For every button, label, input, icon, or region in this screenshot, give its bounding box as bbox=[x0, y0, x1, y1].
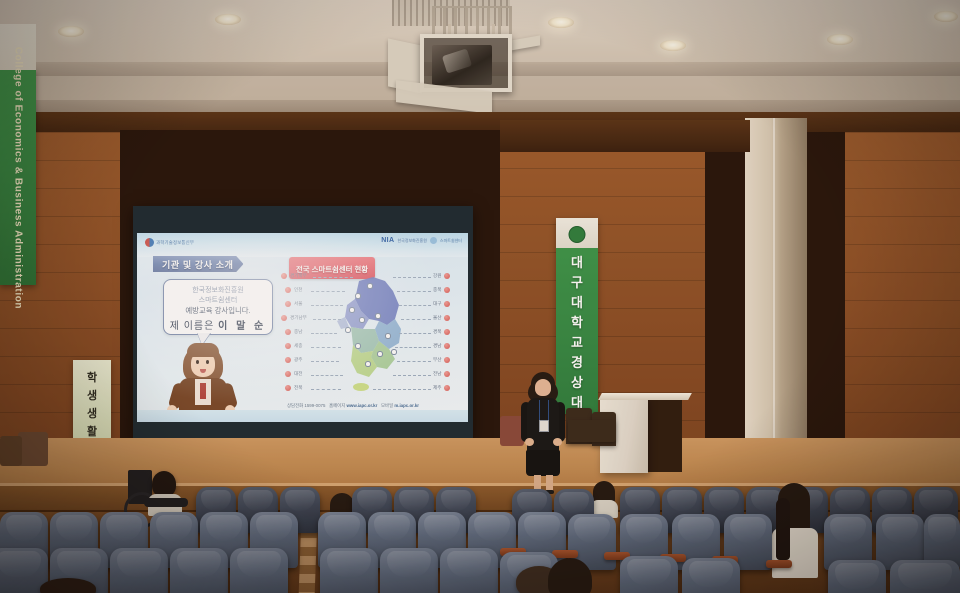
seat[interactable] bbox=[230, 548, 288, 593]
banner-char: 대 bbox=[571, 292, 583, 311]
map-marker-dot-icon bbox=[285, 329, 291, 335]
slide-footer-band bbox=[137, 410, 468, 422]
map-label-left: 대전 bbox=[285, 371, 302, 377]
audience-head bbox=[40, 578, 96, 593]
bubble-line-1: 한국정보화진흥원 bbox=[164, 285, 272, 295]
map-leader-line bbox=[399, 333, 431, 334]
map-leader-line bbox=[311, 361, 339, 362]
map-center-pin-icon bbox=[345, 327, 351, 333]
downlight-icon bbox=[827, 34, 853, 45]
bubble-line-4: 제 이름은 이 말 순 bbox=[164, 317, 272, 332]
presenter-lanyard bbox=[539, 400, 549, 422]
footer-site-label: 홈페이지 bbox=[329, 403, 345, 408]
map-leader-line bbox=[373, 389, 431, 390]
map-label-right: 전남 bbox=[433, 371, 450, 377]
map-center-pin-icon bbox=[355, 343, 361, 349]
footer-mobile-label: 모바일 bbox=[381, 403, 393, 408]
university-seal-icon bbox=[569, 226, 586, 243]
presenter bbox=[519, 372, 567, 494]
presenter-badge bbox=[539, 420, 549, 432]
map-leader-line bbox=[395, 347, 431, 348]
wood-grain bbox=[845, 132, 960, 482]
character-fringe bbox=[187, 343, 219, 357]
map-region-name: 강원 bbox=[433, 273, 441, 279]
map-leader-line bbox=[311, 291, 345, 292]
map-label-left: 인천 bbox=[285, 287, 302, 293]
gov-logo-text: 과학기술정보통신부 bbox=[156, 240, 194, 246]
map-region-name: 인천 bbox=[294, 287, 302, 293]
map-center-pin-icon bbox=[359, 317, 365, 323]
banner-char: 구 bbox=[571, 272, 583, 291]
podium-shadow-side bbox=[648, 400, 682, 472]
footer-site: www.iapc.or.kr bbox=[346, 403, 377, 408]
map-marker-dot-icon bbox=[285, 385, 291, 391]
seat[interactable] bbox=[170, 548, 228, 593]
map-leader-line bbox=[311, 389, 341, 390]
banner-char: 활 bbox=[87, 423, 97, 439]
map-region-name: 대구 bbox=[433, 301, 441, 307]
map-leader-line bbox=[393, 277, 431, 278]
presentation-slide[interactable]: 과학기술정보통신부 NIA 한국정보화진흥원 스마트쉼센터 기관 및 강사 소개… bbox=[137, 233, 468, 422]
banner-char: 상 bbox=[571, 372, 583, 391]
wall-far-right-wood bbox=[845, 132, 960, 482]
map-region-name: 서울 bbox=[294, 301, 302, 307]
wall-pillar bbox=[745, 118, 807, 478]
map-label-left: 경기남부 bbox=[281, 315, 307, 321]
side-chair-red bbox=[18, 432, 48, 466]
footer-phone: 1599-0075 bbox=[304, 403, 325, 408]
nia-mark: NIA bbox=[381, 237, 394, 244]
banner-char: 대 bbox=[571, 252, 583, 271]
banner-college-english: College of Economics & Business Administ… bbox=[0, 70, 36, 285]
map-label-right: 제주 bbox=[433, 385, 450, 391]
lectern-top-surface bbox=[598, 393, 692, 400]
map-leader-line bbox=[393, 375, 431, 376]
map-label-right: 대구 bbox=[433, 301, 450, 307]
map-label-right: 부산 bbox=[433, 357, 450, 363]
seat[interactable] bbox=[890, 560, 960, 593]
map-region-name: 경남 bbox=[433, 343, 441, 349]
map-label-left: 광주 bbox=[285, 357, 302, 363]
map-center-pin-icon bbox=[375, 313, 381, 319]
seat[interactable] bbox=[620, 556, 678, 593]
map-marker-dot-icon bbox=[285, 371, 291, 377]
map-region-name: 광주 bbox=[294, 357, 302, 363]
character-eye-left bbox=[196, 360, 199, 364]
banner-char: 생 bbox=[87, 405, 97, 421]
map-label-right: 충북 bbox=[433, 287, 450, 293]
map-region-name: 세종 bbox=[294, 343, 302, 349]
map-leader-line bbox=[399, 305, 431, 306]
map-leader-line bbox=[311, 333, 337, 334]
lift-ladder-rail bbox=[432, 6, 512, 36]
map-leader-line bbox=[313, 319, 341, 320]
instructor-name: 이 말 순 bbox=[218, 321, 266, 332]
wheelchair-armrest bbox=[144, 498, 188, 507]
side-chair-red bbox=[0, 436, 22, 466]
map-marker-dot-icon bbox=[285, 357, 291, 363]
map-marker-dot-icon bbox=[444, 273, 450, 279]
map-region-name: 부산 bbox=[433, 357, 441, 363]
map-region-name: 경기남부 bbox=[290, 315, 307, 321]
map-region-name: 전남 bbox=[433, 371, 441, 377]
map-marker-dot-icon bbox=[444, 385, 450, 391]
footer-mobile: m.iapc.or.kr bbox=[394, 403, 419, 408]
seat[interactable] bbox=[380, 548, 438, 593]
banner-char: 생 bbox=[87, 387, 97, 403]
stage-chair bbox=[568, 420, 616, 442]
nia-partner: 스마트쉼센터 bbox=[440, 238, 462, 244]
presenter-face bbox=[535, 379, 551, 396]
map-leader-line bbox=[311, 347, 341, 348]
wall-top-beam bbox=[500, 120, 750, 152]
map-label-right: 경북 bbox=[433, 329, 450, 335]
banner-char: 학 bbox=[571, 312, 583, 331]
presenter-leg-right bbox=[546, 475, 553, 491]
map-marker-dot-icon bbox=[285, 343, 291, 349]
ceiling bbox=[0, 0, 960, 118]
slide-title-ribbon: 기관 및 강사 소개 bbox=[153, 256, 243, 272]
map-marker-dot-icon bbox=[444, 357, 450, 363]
seat[interactable] bbox=[440, 548, 498, 593]
map-marker-dot-icon bbox=[444, 287, 450, 293]
map-region-name: 대전 bbox=[294, 371, 302, 377]
character-mouth bbox=[200, 369, 206, 373]
banner-header-white bbox=[556, 218, 598, 248]
banner-char: 교 bbox=[571, 332, 583, 351]
map-label-left: 전북 bbox=[285, 385, 302, 391]
map-label-right: 경남 bbox=[433, 343, 450, 349]
downlight-icon bbox=[215, 14, 241, 25]
map-center-pin-icon bbox=[349, 307, 355, 313]
nia-circle-icon bbox=[430, 237, 437, 244]
map-marker-dot-icon bbox=[444, 371, 450, 377]
map-label-left: 충남 bbox=[285, 329, 302, 335]
korea-map-panel: 경기북부 인천 서울 경기남부 충남 세종 bbox=[281, 271, 463, 401]
nia-subtitle: 한국정보화진흥원 bbox=[397, 238, 426, 244]
map-center-pin-icon bbox=[355, 293, 361, 299]
map-marker-dot-icon bbox=[285, 287, 291, 293]
downlight-icon bbox=[934, 11, 958, 22]
map-leader-line bbox=[311, 375, 343, 376]
map-label-left: 서울 bbox=[285, 301, 302, 307]
banner-char: 경 bbox=[571, 352, 583, 371]
downlight-icon bbox=[58, 26, 84, 37]
seat-armrest bbox=[766, 560, 792, 568]
map-region-name: 전북 bbox=[294, 385, 302, 391]
presenter-hand-right bbox=[553, 438, 562, 446]
map-label-left: 세종 bbox=[285, 343, 302, 349]
map-marker-dot-icon bbox=[285, 301, 291, 307]
map-region-name: 충남 bbox=[294, 329, 302, 335]
speech-bubble: 한국정보화진흥원 스마트쉼센터 예방교육 강사입니다. 제 이름은 이 말 순 bbox=[163, 279, 273, 335]
map-region-name: 울산 bbox=[433, 315, 441, 321]
gov-emblem-icon bbox=[145, 238, 154, 247]
map-marker-dot-icon bbox=[444, 301, 450, 307]
map-marker-dot-icon bbox=[444, 315, 450, 321]
map-marker-dot-icon bbox=[444, 329, 450, 335]
map-label-right: 울산 bbox=[433, 315, 450, 321]
presenter-skirt bbox=[526, 450, 560, 476]
nia-logo: NIA 한국정보화진흥원 스마트쉼센터 bbox=[381, 237, 462, 244]
wall-far-right-dark bbox=[807, 132, 847, 482]
map-marker-dot-icon bbox=[444, 343, 450, 349]
bubble-name-prefix: 제 이름은 bbox=[170, 321, 215, 332]
map-region-name: 경기북부 bbox=[290, 273, 307, 279]
map-center-pin-icon bbox=[391, 349, 397, 355]
map-leader-line bbox=[313, 277, 353, 278]
map-region-name: 충북 bbox=[433, 287, 441, 293]
downlight-icon bbox=[660, 40, 686, 51]
presenter-hand-left bbox=[525, 438, 534, 446]
downlight-icon bbox=[548, 17, 574, 28]
map-label-left: 경기북부 bbox=[281, 273, 307, 279]
wall-right-recess bbox=[705, 150, 747, 470]
auditorium-photo: 과학기술정보통신부 NIA 한국정보화진흥원 스마트쉼센터 기관 및 강사 소개… bbox=[0, 0, 960, 593]
map-center-pin-icon bbox=[385, 333, 391, 339]
character-tie bbox=[200, 383, 206, 399]
banner-char: 학 bbox=[87, 369, 97, 385]
map-leader-line bbox=[397, 361, 431, 362]
map-leader-line bbox=[311, 305, 343, 306]
map-center-pin-icon bbox=[365, 361, 371, 367]
audience-hair-strand bbox=[776, 498, 790, 560]
map-center-pin-icon bbox=[377, 351, 383, 357]
slide-footer-contact: 상담전화 1599-0075 홈페이지 www.iapc.or.kr 모바일 m… bbox=[287, 403, 419, 409]
seat[interactable] bbox=[320, 548, 378, 593]
footer-phone-label: 상담전화 bbox=[287, 403, 303, 408]
ceiling-projector-lift bbox=[420, 34, 512, 92]
map-leader-line bbox=[401, 319, 431, 320]
map-label-right: 강원 bbox=[433, 273, 450, 279]
map-region-name: 경북 bbox=[433, 329, 441, 335]
banner-english-text: College of Economics & Business Administ… bbox=[13, 46, 24, 308]
character-eye-right bbox=[206, 360, 209, 364]
pillar-highlight-edge bbox=[773, 118, 775, 478]
map-marker-dot-icon bbox=[281, 315, 287, 321]
seat[interactable] bbox=[828, 560, 886, 593]
map-marker-dot-icon bbox=[281, 273, 287, 279]
government-logo: 과학기술정보통신부 bbox=[145, 238, 194, 247]
seat[interactable] bbox=[110, 548, 168, 593]
map-region-name: 제주 bbox=[433, 385, 441, 391]
bubble-line-3: 예방교육 강사입니다. bbox=[164, 305, 272, 316]
map-leader-line bbox=[397, 291, 431, 292]
map-center-pin-icon bbox=[367, 283, 373, 289]
seat[interactable] bbox=[682, 558, 740, 593]
bubble-line-2: 스마트쉼센터 bbox=[164, 295, 272, 305]
slide-title: 기관 및 강사 소개 bbox=[162, 258, 233, 271]
korea-map-icon bbox=[329, 275, 413, 395]
